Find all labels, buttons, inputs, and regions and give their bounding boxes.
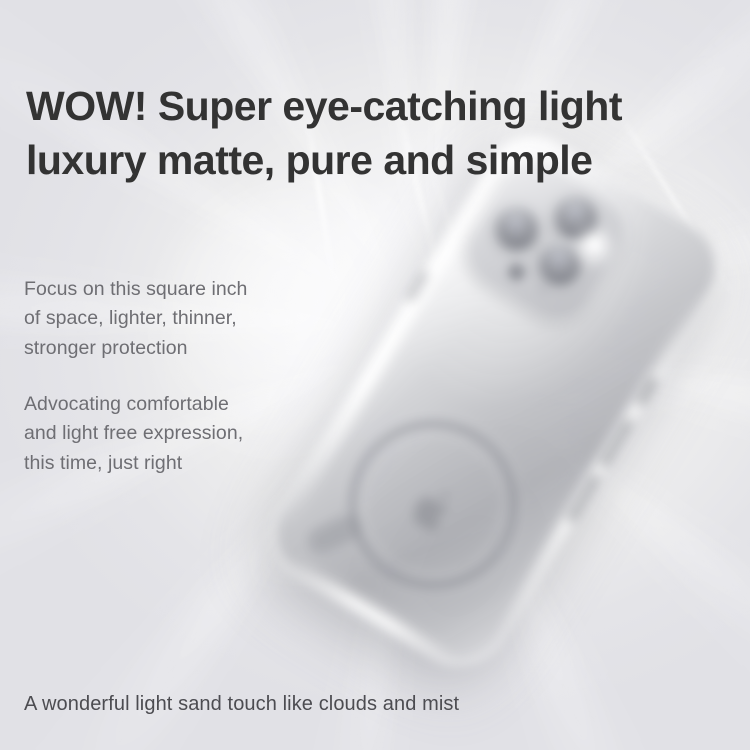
page-title: WOW! Super eye-catching light luxury mat… — [26, 80, 716, 187]
feature-text-protection: Focus on this square inch of space, ligh… — [24, 275, 324, 364]
product-banner: WOW! Super eye-catching light luxury mat… — [0, 0, 750, 750]
bottom-caption: A wonderful light sand touch like clouds… — [24, 693, 459, 716]
feature-text-expression: Advocating comfortable and light free ex… — [24, 390, 324, 479]
microphone-dot-icon — [538, 285, 548, 295]
lidar-sensor-icon — [503, 259, 529, 285]
